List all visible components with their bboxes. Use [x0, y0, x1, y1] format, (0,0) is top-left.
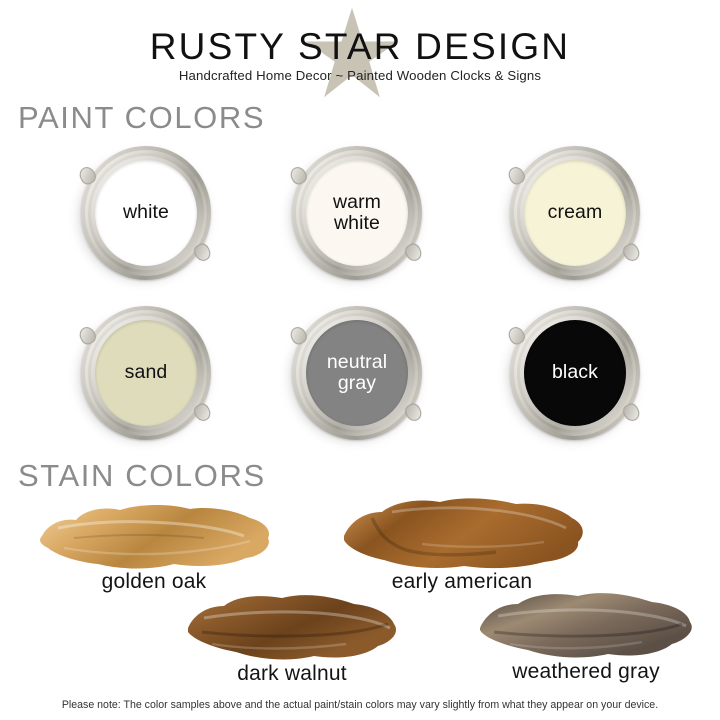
brushstroke-icon: [470, 590, 702, 662]
swatch-label: black: [552, 362, 598, 383]
swatch-label-line2: white: [334, 212, 380, 234]
page-title: RUSTY STAR DESIGN: [0, 26, 720, 68]
can-paint-face: sand: [95, 320, 197, 426]
swatch-label-line1: sand: [125, 361, 168, 383]
brand-header: RUSTY STAR DESIGN Handcrafted Home Decor…: [0, 0, 720, 96]
stain-swatch-weathered-gray[interactable]: weathered gray: [470, 590, 702, 684]
swatch-label: neutral gray: [327, 352, 387, 394]
paint-swatch-neutral-gray[interactable]: neutral gray: [285, 302, 427, 444]
stain-label: golden oak: [28, 570, 280, 594]
can-paint-face: neutral gray: [306, 320, 408, 426]
swatch-label: white: [123, 202, 169, 223]
swatch-label-line1: black: [552, 361, 598, 383]
stain-swatch-dark-walnut[interactable]: dark walnut: [178, 592, 406, 686]
paint-colors-heading: PAINT COLORS: [18, 100, 265, 136]
swatch-label-line1: cream: [548, 201, 603, 223]
stain-swatch-golden-oak[interactable]: golden oak: [28, 500, 280, 594]
paint-swatch-sand[interactable]: sand: [74, 302, 216, 444]
swatch-label: warm white: [333, 192, 381, 234]
brand-tagline: Handcrafted Home Decor ~ Painted Wooden …: [0, 68, 720, 83]
stain-colors-heading: STAIN COLORS: [18, 458, 266, 494]
can-paint-face: warm white: [306, 160, 408, 266]
brushstroke-icon: [28, 500, 280, 572]
swatch-label-line1: white: [123, 201, 169, 223]
swatch-label-line1: warm: [333, 191, 381, 213]
can-paint-face: black: [524, 320, 626, 426]
swatch-label-line1: neutral: [327, 351, 387, 373]
brushstroke-icon: [332, 496, 592, 572]
stain-label: weathered gray: [470, 660, 702, 684]
brushstroke-icon: [178, 592, 406, 664]
paint-swatch-white[interactable]: white: [74, 142, 216, 284]
paint-swatch-warm-white[interactable]: warm white: [285, 142, 427, 284]
can-paint-face: cream: [524, 160, 626, 266]
stain-swatch-early-american[interactable]: early american: [332, 496, 592, 594]
color-chart-page: RUSTY STAR DESIGN Handcrafted Home Decor…: [0, 0, 720, 720]
swatch-label: cream: [548, 202, 603, 223]
can-paint-face: white: [95, 160, 197, 266]
paint-swatch-black[interactable]: black: [503, 302, 645, 444]
swatch-label-line2: gray: [338, 372, 376, 394]
stain-label: dark walnut: [178, 662, 406, 686]
swatch-label: sand: [125, 362, 168, 383]
disclaimer-note: Please note: The color samples above and…: [0, 699, 720, 711]
paint-swatch-cream[interactable]: cream: [503, 142, 645, 284]
